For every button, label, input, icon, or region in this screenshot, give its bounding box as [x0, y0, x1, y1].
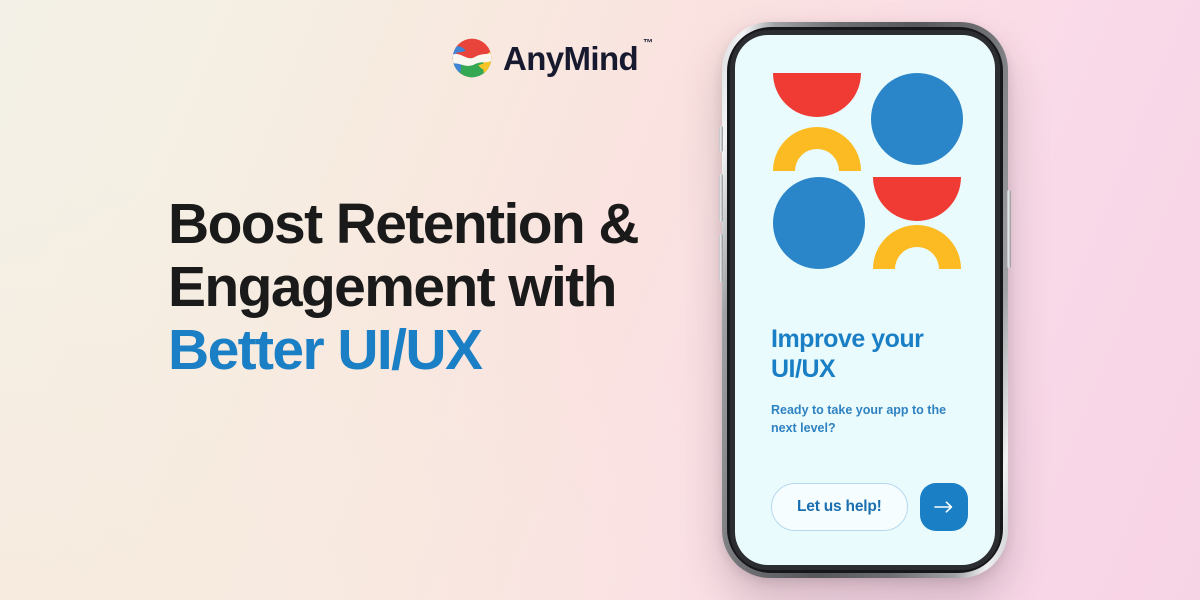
headline-line-2: Engagement with — [168, 259, 728, 316]
anymind-wordmark: AnyMind ™ — [503, 42, 638, 75]
arrow-forward-button[interactable] — [920, 483, 968, 531]
headline-line-1: Boost Retention & — [168, 196, 728, 253]
volume-up-button[interactable] — [719, 174, 723, 222]
promo-banner: AnyMind ™ Boost Retention & Engagement w… — [0, 0, 1200, 600]
let-us-help-button[interactable]: Let us help! — [771, 483, 908, 531]
anymind-circle-logo-icon — [452, 38, 492, 78]
phone-mockup: Improve your UI/UX Ready to take your ap… — [722, 22, 1008, 578]
screen-heading: Improve your UI/UX — [771, 325, 971, 384]
phone-screen: Improve your UI/UX Ready to take your ap… — [735, 35, 995, 565]
trademark-symbol: ™ — [643, 39, 653, 49]
screen-subtext: Ready to take your app to the next level… — [771, 402, 967, 438]
anymind-logo: AnyMind ™ — [452, 38, 638, 78]
screen-actions: Let us help! — [771, 483, 968, 531]
silence-switch[interactable] — [719, 126, 723, 152]
anymind-wordmark-text: AnyMind — [503, 40, 638, 77]
volume-down-button[interactable] — [719, 234, 723, 282]
headline-line-3: Better UI/UX — [168, 322, 728, 379]
power-button[interactable] — [1007, 190, 1011, 268]
arrow-right-icon — [934, 500, 954, 514]
headline: Boost Retention & Engagement with Better… — [168, 196, 728, 379]
